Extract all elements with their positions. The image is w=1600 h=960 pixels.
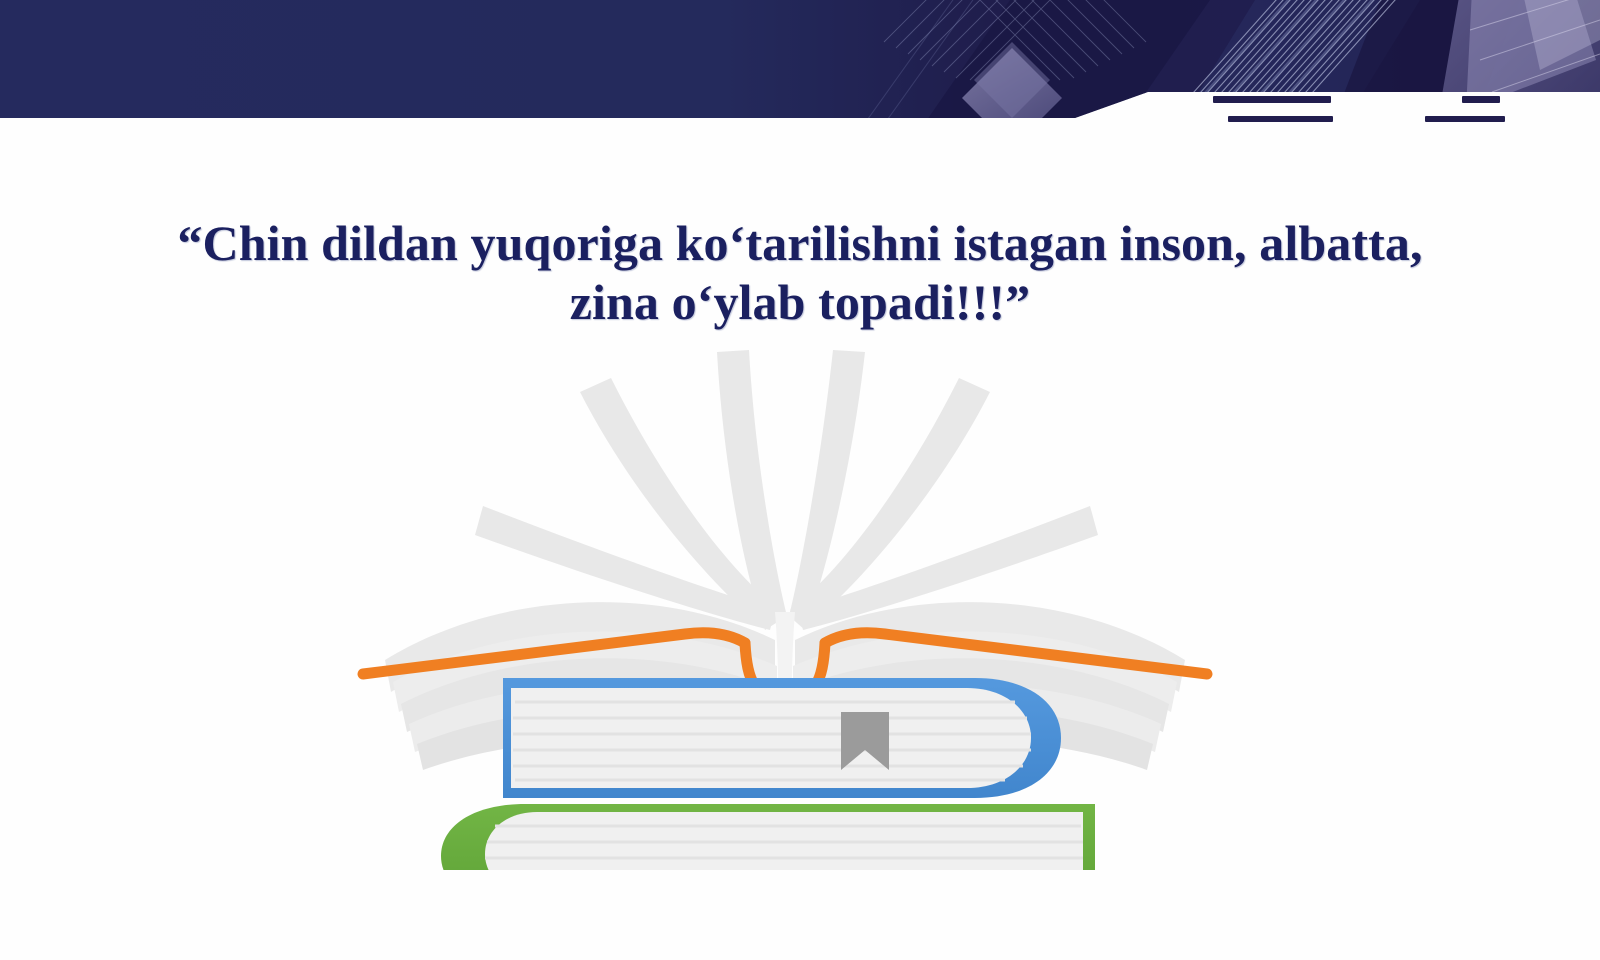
title-block: “Chin dildan yuqoriga ko‘tarilishni ista… [130, 214, 1470, 332]
navy-band-group [0, 0, 1600, 130]
lavender-prism [1438, 0, 1600, 118]
open-book-graphic [355, 330, 1215, 870]
open-book-illustration [355, 330, 1215, 870]
header-decoration-band [0, 0, 1600, 130]
stacked-book-green [441, 804, 1095, 870]
flying-pages-group [475, 350, 1098, 630]
title-line-2: zina o‘ylab topadi!!!” [570, 274, 1031, 330]
title-line-1: “Chin dildan yuqoriga ko‘tarilishni ista… [177, 215, 1422, 271]
header-band-graphic [0, 0, 1600, 130]
slide-canvas: “Chin dildan yuqoriga ko‘tarilishni ista… [0, 0, 1600, 960]
page-title: “Chin dildan yuqoriga ko‘tarilishni ista… [130, 214, 1470, 332]
stacked-book-blue [503, 678, 1061, 798]
